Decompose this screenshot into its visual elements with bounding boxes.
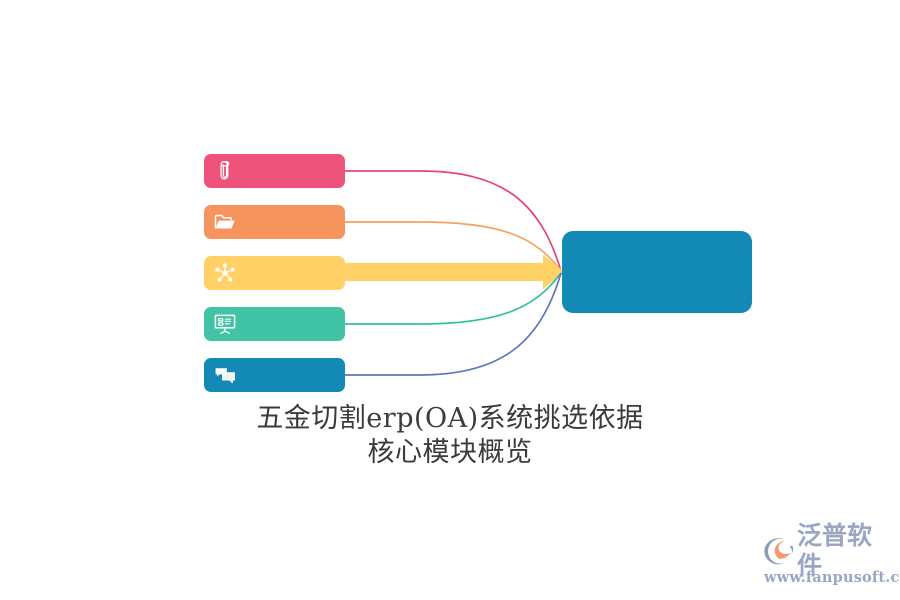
caption-block: 五金切割erp(OA)系统挑选依据 核心模块概览 xyxy=(0,402,900,470)
paperclip-icon xyxy=(213,159,237,183)
connector-line-5 xyxy=(345,273,561,375)
caption-line-2: 核心模块概览 xyxy=(0,436,900,470)
hub-box[interactable] xyxy=(562,231,752,313)
connector-line-1 xyxy=(345,171,561,271)
connector-line-4 xyxy=(345,273,561,324)
watermark-url: www.fanpusoft.com xyxy=(764,569,900,586)
module-bar-reports[interactable] xyxy=(204,307,345,341)
module-bar-documents[interactable] xyxy=(204,205,345,239)
caption-line-1: 五金切割erp(OA)系统挑选依据 xyxy=(0,402,900,436)
watermark: 泛普软件 www.fanpusoft.com xyxy=(762,534,894,590)
chat-bubbles-icon xyxy=(213,363,237,387)
module-flow-diagram xyxy=(0,0,900,600)
connector-line-2 xyxy=(345,222,561,271)
module-bar-attachments[interactable] xyxy=(204,154,345,188)
connector-arrow-3 xyxy=(345,255,565,289)
open-folder-icon xyxy=(213,210,237,234)
fanpu-logo-icon xyxy=(762,536,794,566)
network-nodes-icon xyxy=(213,261,237,285)
connector-lines xyxy=(0,0,900,600)
module-bar-communication[interactable] xyxy=(204,358,345,392)
module-bar-workflow[interactable] xyxy=(204,256,345,290)
presentation-board-icon xyxy=(213,312,237,336)
infographic-canvas: 五金切割erp(OA)系统挑选依据 核心模块概览 泛普软件 www.fanpus… xyxy=(0,0,900,600)
watermark-brand-row: 泛普软件 xyxy=(762,534,894,568)
